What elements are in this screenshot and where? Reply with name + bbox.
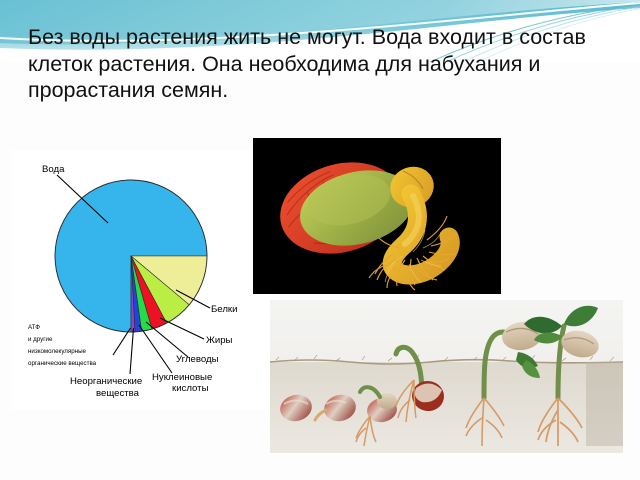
pie-label-inorganic-line1: Неорганические xyxy=(70,376,142,387)
bean-germination-stages-illustration xyxy=(270,300,623,453)
germination-svg xyxy=(270,300,623,453)
pie-label-atp-line2: и другие xyxy=(28,336,53,343)
pie-label-atp-line3: низкомолекулярные xyxy=(28,348,87,355)
pie-label-nucleic-acids-line1: Нуклеиновые xyxy=(152,372,212,383)
pie-label-nucleic-acids-line2: кислоты xyxy=(172,383,209,394)
pie-label-atp-line4: органические вещества xyxy=(28,360,97,367)
pie-label-carbohydrates: Углеводы xyxy=(176,354,219,365)
germinating-seed-sem-photo xyxy=(253,138,501,294)
pie-slices xyxy=(55,180,207,332)
pie-label-fats: Жиры xyxy=(206,335,233,346)
sem-photo-svg xyxy=(253,138,501,294)
pie-label-inorganic-line2: вещества xyxy=(96,388,140,399)
page-title: Без воды растения жить не могут. Вода вх… xyxy=(28,24,628,104)
pie-label-atp-line1: АТФ xyxy=(28,324,40,331)
pie-label-water: Вода xyxy=(42,164,65,175)
cell-composition-pie-chart: Вода Белки Жиры Углеводы Нуклеиновые кис… xyxy=(12,150,272,410)
pie-label-proteins: Белки xyxy=(211,304,237,315)
pie-chart-svg: Вода Белки Жиры Углеводы Нуклеиновые кис… xyxy=(12,150,272,410)
